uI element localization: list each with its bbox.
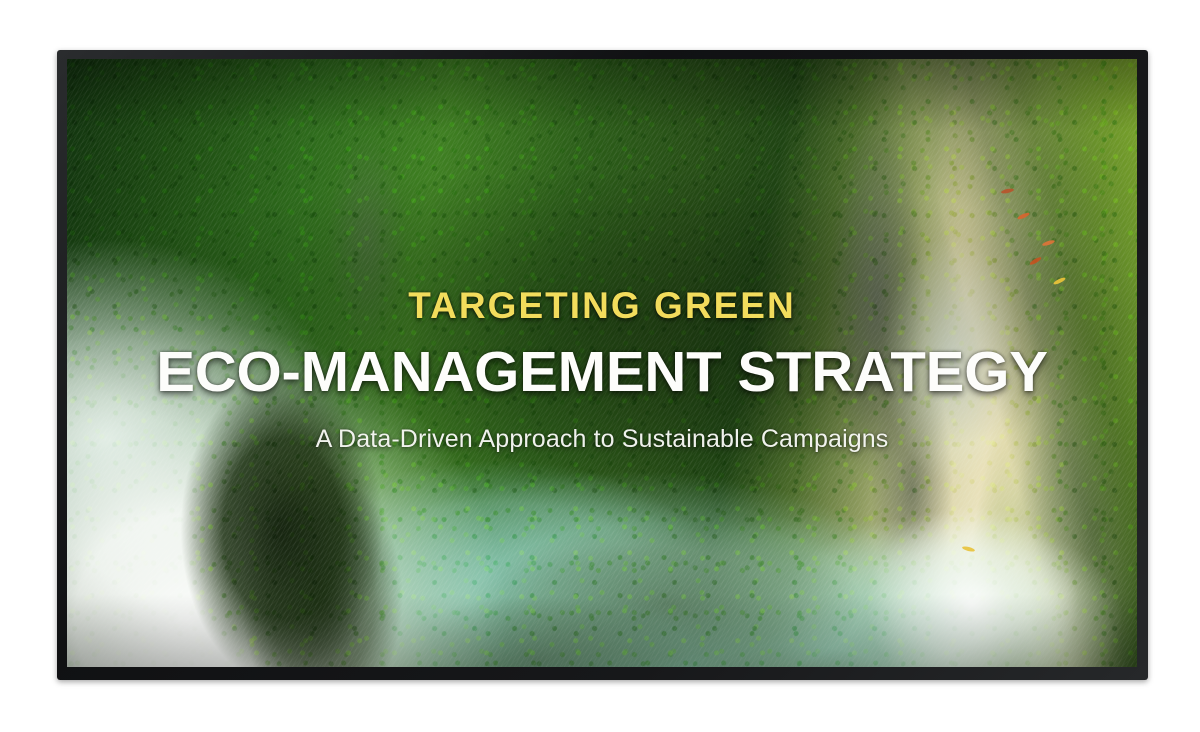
display-bezel: TARGETING GREEN ECO-MANAGEMENT STRATEGY …	[57, 50, 1148, 680]
presentation-slide[interactable]: TARGETING GREEN ECO-MANAGEMENT STRATEGY …	[67, 59, 1137, 667]
screenshot-canvas: TARGETING GREEN ECO-MANAGEMENT STRATEGY …	[0, 0, 1200, 732]
headline-scrim	[67, 59, 1137, 667]
